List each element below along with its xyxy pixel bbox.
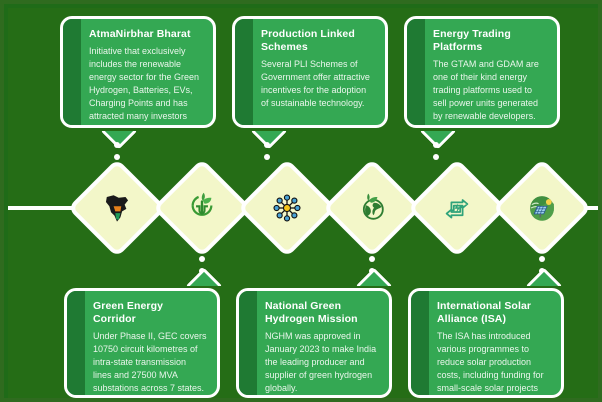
node-green-globe[interactable] <box>328 164 416 252</box>
card-body: Production Linked Schemes Several PLI Sc… <box>259 19 385 118</box>
card-title: Production Linked Schemes <box>261 28 375 54</box>
green-globe-leaf-icon <box>352 188 392 228</box>
card-accent-strip <box>239 291 257 395</box>
node-eco-plug[interactable] <box>158 164 246 252</box>
card-body: AtmaNirbhar Bharat Initiative that exclu… <box>87 19 213 128</box>
infographic-root: AtmaNirbhar Bharat Initiative that exclu… <box>0 0 602 402</box>
card-accent-strip <box>67 291 85 395</box>
connector-dot <box>433 154 439 160</box>
connector-dot <box>369 256 375 262</box>
card-accent-strip <box>63 19 81 125</box>
card-text: The ISA has introduced various programme… <box>437 330 551 398</box>
connector-dot <box>114 154 120 160</box>
card-accent-strip <box>235 19 253 125</box>
card-title: National Green Hydrogen Mission <box>265 300 379 326</box>
node-india-map[interactable] <box>73 164 161 252</box>
card-energy-trading-platforms[interactable]: Energy Trading Platforms The GTAM and GD… <box>404 16 560 128</box>
card-title: International Solar Alliance (ISA) <box>437 300 551 326</box>
card-text: Initiative that exclusively includes the… <box>89 45 203 123</box>
energy-recycle-icon <box>437 188 477 228</box>
card-atmanirbhar-bharat[interactable]: AtmaNirbhar Bharat Initiative that exclu… <box>60 16 216 128</box>
card-body: National Green Hydrogen Mission NGHM was… <box>263 291 389 398</box>
card-title: Green Energy Corridor <box>93 300 207 326</box>
india-map-icon <box>97 188 137 228</box>
card-text: The GTAM and GDAM are one of their kind … <box>433 58 547 123</box>
card-international-solar-alliance[interactable]: International Solar Alliance (ISA) The I… <box>408 288 564 398</box>
card-text: Several PLI Schemes of Government offer … <box>261 58 375 110</box>
card-production-linked-schemes[interactable]: Production Linked Schemes Several PLI Sc… <box>232 16 388 128</box>
eco-plug-leaf-icon <box>182 188 222 228</box>
connector-dots-pls <box>263 142 271 160</box>
card-title: AtmaNirbhar Bharat <box>89 28 203 41</box>
solar-panel-icon <box>522 188 562 228</box>
node-molecule-network[interactable] <box>243 164 331 252</box>
card-text: NGHM was approved in January 2023 to mak… <box>265 330 379 395</box>
node-energy-recycle[interactable] <box>413 164 501 252</box>
card-body: International Solar Alliance (ISA) The I… <box>435 291 561 398</box>
card-green-energy-corridor[interactable]: Green Energy Corridor Under Phase II, GE… <box>64 288 220 398</box>
connector-dots-etp <box>432 142 440 160</box>
card-body: Green Energy Corridor Under Phase II, GE… <box>91 291 217 398</box>
connector-dot <box>199 256 205 262</box>
connector-dot <box>264 154 270 160</box>
connector-dot <box>264 142 270 148</box>
card-title: Energy Trading Platforms <box>433 28 547 54</box>
card-body: Energy Trading Platforms The GTAM and GD… <box>431 19 557 128</box>
node-solar-panel[interactable] <box>498 164 586 252</box>
infographic-canvas: AtmaNirbhar Bharat Initiative that exclu… <box>8 8 602 402</box>
connector-dots-atmanirbhar <box>113 142 121 160</box>
molecule-network-icon <box>267 188 307 228</box>
card-accent-strip <box>407 19 425 125</box>
card-text: Under Phase II, GEC covers 10750 circuit… <box>93 330 207 395</box>
connector-dot <box>433 142 439 148</box>
card-accent-strip <box>411 291 429 395</box>
connector-dot <box>539 256 545 262</box>
connector-dot <box>114 142 120 148</box>
card-national-green-hydrogen-mission[interactable]: National Green Hydrogen Mission NGHM was… <box>236 288 392 398</box>
